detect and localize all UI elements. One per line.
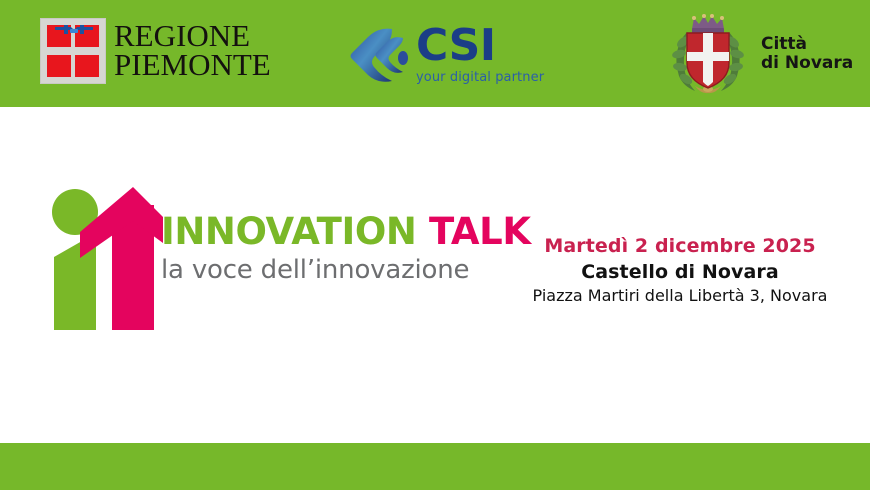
- csi-wordmark: CSI: [416, 24, 544, 68]
- bottom-green-band: [0, 443, 870, 490]
- emblem-knot-icon: [54, 24, 94, 37]
- title-word-innovation: INNOVATION: [161, 210, 416, 253]
- logo-citta-di-novara: Città di Novara: [665, 10, 853, 98]
- event-address: Piazza Martiri della Libertà 3, Novara: [505, 286, 855, 307]
- innovation-talk-wordmark: INNOVATION TALK la voce dell’innovazione: [161, 213, 531, 283]
- emblem-square-bottom-right: [75, 55, 99, 77]
- innovation-talk-title: INNOVATION TALK: [161, 213, 531, 250]
- emblem-square-bottom-left: [47, 55, 71, 77]
- citta-line-2: di Novara: [761, 54, 853, 73]
- event-details: Martedì 2 dicembre 2025 Castello di Nova…: [505, 235, 855, 307]
- event-date: Martedì 2 dicembre 2025: [505, 235, 855, 259]
- it-monogram-icon: [38, 185, 170, 330]
- innovation-talk-subtitle: la voce dell’innovazione: [161, 257, 531, 283]
- innovation-talk-lockup: INNOVATION TALK la voce dell’innovazione: [38, 185, 498, 330]
- regione-piemonte-wordmark: REGIONE PIEMONTE: [114, 22, 271, 80]
- event-poster: REGIONE PIEMONTE CSI your digital partne…: [0, 0, 870, 490]
- csi-chevron-mark-icon: [348, 24, 410, 86]
- poster-body: INNOVATION TALK la voce dell’innovazione…: [0, 107, 870, 443]
- citta-line-1: Città: [761, 35, 853, 54]
- csi-tagline: your digital partner: [416, 70, 544, 85]
- piedmont-cross-emblem-icon: [40, 18, 106, 84]
- csi-text-block: CSI your digital partner: [416, 22, 544, 85]
- event-venue: Castello di Novara: [505, 260, 855, 285]
- citta-novara-wordmark: Città di Novara: [761, 35, 853, 73]
- logo-regione-piemonte: REGIONE PIEMONTE: [40, 18, 271, 84]
- logo-csi: CSI your digital partner: [348, 22, 544, 86]
- novara-coat-of-arms-icon: [665, 10, 751, 98]
- regione-line-2: PIEMONTE: [114, 51, 271, 80]
